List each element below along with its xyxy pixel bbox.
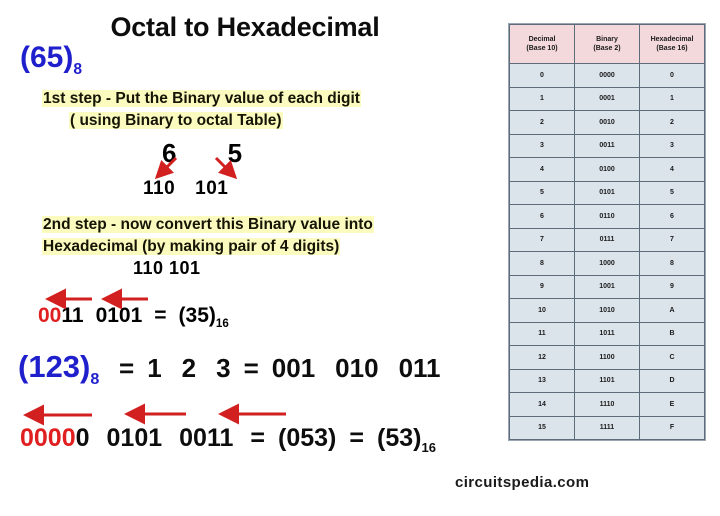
table-cell: 1110 [575,393,640,417]
table-header-row: Decimal (Base 10) Binary (Base 2) Hexade… [510,25,705,64]
table-cell: 0100 [575,158,640,182]
hex-line-1-result-subscript: 16 [216,318,229,330]
table-cell: 6 [510,205,575,229]
table-header-decimal-name: Decimal [529,36,556,43]
table-cell: 6 [640,205,705,229]
table-row: 121100C [510,346,705,370]
step-2-line-2: Hexadecimal (by making pair of 4 digits) [42,238,340,255]
binary-digits-row: 110101 [143,178,228,200]
hex-line-1-red-bits: 00 [38,304,61,327]
hex-line-1-black-bits-b: 0101 [96,304,143,327]
step-1-text: 1st step - Put the Binary value of each … [42,88,361,132]
table-cell: 1111 [575,416,640,440]
table-row: 101010A [510,299,705,323]
octal-operand-65-subscript: 8 [73,61,82,78]
table-cell: 3 [640,134,705,158]
step-1-line-1: 1st step - Put the Binary value of each … [42,90,361,107]
table-cell: 5 [510,181,575,205]
binary-group-1: 110 [143,178,175,199]
table-cell: 9 [510,275,575,299]
table-header-binary-name: Binary [596,36,618,43]
octal-operand-123: (123)8 [18,349,99,389]
table-header-decimal-base: (Base 10) [510,44,574,53]
table-cell: 1000 [575,252,640,276]
table-cell: 1010 [575,299,640,323]
table-cell: A [640,299,705,323]
table-cell: 7 [640,228,705,252]
table-row: 300113 [510,134,705,158]
table-cell: 8 [640,252,705,276]
number-base-table: Decimal (Base 10) Binary (Base 2) Hexade… [508,23,706,441]
table-cell: 0101 [575,181,640,205]
table-row: 000000 [510,64,705,88]
table-row: 111011B [510,322,705,346]
second-example-digit-2: 2 [182,353,196,383]
table-cell: D [640,369,705,393]
table-cell: E [640,393,705,417]
table-cell: 4 [510,158,575,182]
hex-line-1-equals: = [154,304,166,327]
hex-line-2-group-3: 0011 [179,424,233,452]
hex-line-1-black-bits-a: 11 [61,304,83,327]
table-row: 701117 [510,228,705,252]
table-cell: B [640,322,705,346]
table-cell: 12 [510,346,575,370]
table-row: 501015 [510,181,705,205]
table-cell: 0110 [575,205,640,229]
hex-conversion-line-2: 0000001010011=(053)=(53)16 [20,424,436,455]
table-header-hexadecimal-name: Hexadecimal [651,36,694,43]
octal-operand-123-subscript: 8 [90,370,99,388]
table-row: 200102 [510,111,705,135]
second-example-binary-3: 011 [399,353,441,383]
step-2-text: 2nd step - now convert this Binary value… [42,214,374,258]
table-row: 401004 [510,158,705,182]
binary-pair-line: 110 101 [133,258,201,279]
hex-line-2-equals-2: = [349,424,364,452]
octal-operand-65-value: (65) [20,41,73,74]
second-example-digit-3: 3 [216,353,230,383]
table-cell: C [640,346,705,370]
hex-line-2-red-bits: 0000 [20,424,76,452]
table-cell: 14 [510,393,575,417]
table-cell: 10 [510,299,575,323]
table-cell: 8 [510,252,575,276]
table-header-binary: Binary (Base 2) [575,25,640,64]
table-header-binary-base: (Base 2) [575,44,639,53]
table-cell: 0010 [575,111,640,135]
table-cell: 1011 [575,322,640,346]
table-cell: 2 [640,111,705,135]
table-cell: 11 [510,322,575,346]
slide-canvas: Octal to Hexadecimal (65)8 1st step - Pu… [0,0,720,516]
hex-line-2-group-2: 0101 [107,424,163,452]
table-header-hexadecimal: Hexadecimal (Base 16) [640,25,705,64]
table-cell: 1 [510,87,575,111]
table-cell: 4 [640,158,705,182]
table-cell: 15 [510,416,575,440]
hex-line-2-result-padded: (053) [278,424,336,452]
table-cell: 5 [640,181,705,205]
octal-operand-123-value: (123) [18,349,90,384]
second-example-binary-2: 010 [335,353,378,383]
table-cell: 13 [510,369,575,393]
table-header-decimal: Decimal (Base 10) [510,25,575,64]
table-row: 141110E [510,393,705,417]
hex-line-2-black-bit: 0 [76,424,90,452]
second-example-line: =123=001010011 [119,353,441,384]
watermark: circuitspedia.com [455,474,589,491]
table-cell: 7 [510,228,575,252]
octal-operand-65: (65)8 [20,41,82,79]
second-example-equals-1: = [119,353,134,383]
step-1-line-2: ( using Binary to octal Table) [69,112,283,129]
second-example-equals-2: = [244,353,259,383]
table-cell: 0000 [575,64,640,88]
octal-digits-row: 6 5 [162,138,264,169]
table-cell: 0001 [575,87,640,111]
table-cell: 1101 [575,369,640,393]
table-cell: 9 [640,275,705,299]
table-cell: 2 [510,111,575,135]
table-header-hexadecimal-base: (Base 16) [640,44,704,53]
second-example-digit-1: 1 [147,353,161,383]
table-cell: F [640,416,705,440]
hex-line-2-equals-1: = [250,424,265,452]
table-cell: 0 [640,64,705,88]
table-cell: 1100 [575,346,640,370]
hex-line-2-result: (53) [377,424,421,452]
table-row: 810008 [510,252,705,276]
table-cell: 1 [640,87,705,111]
second-example-binary-1: 001 [272,353,315,383]
table-row: 151111F [510,416,705,440]
table-cell: 0 [510,64,575,88]
hex-line-1-result: (35) [179,304,216,327]
table-cell: 0111 [575,228,640,252]
binary-group-2: 101 [195,178,228,199]
table-row: 910019 [510,275,705,299]
page-title: Octal to Hexadecimal [0,12,490,43]
table-cell: 3 [510,134,575,158]
hex-line-2-result-subscript: 16 [421,440,435,455]
table-cell: 1001 [575,275,640,299]
table-cell: 0011 [575,134,640,158]
hex-conversion-line-1: 00110101=(35)16 [38,304,229,330]
table-row: 100011 [510,87,705,111]
step-2-line-1: 2nd step - now convert this Binary value… [42,216,374,233]
table-row: 131101D [510,369,705,393]
table-row: 601106 [510,205,705,229]
